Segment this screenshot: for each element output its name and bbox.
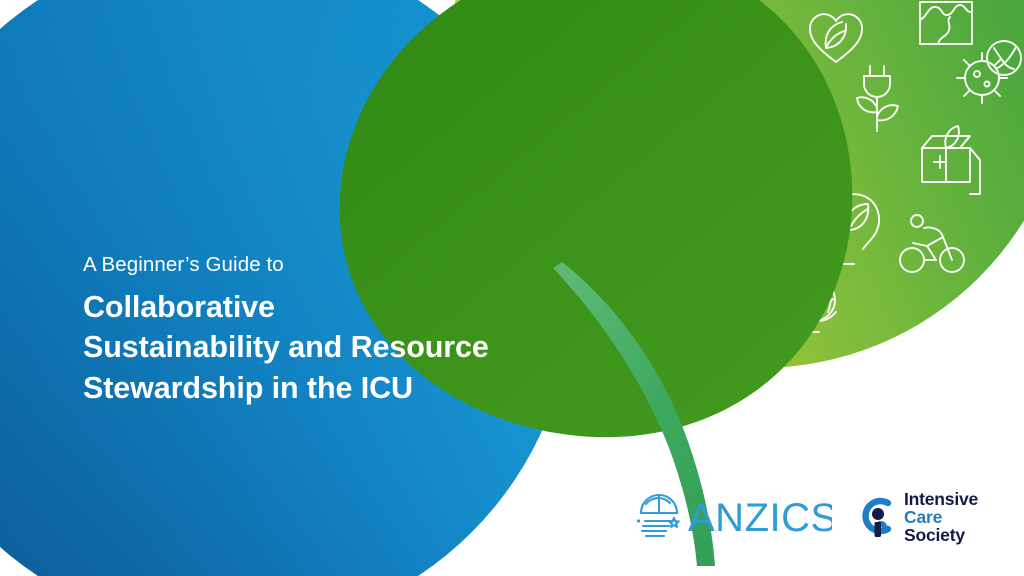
- ics-wordmark: Intensive Care Society: [904, 491, 978, 545]
- page-title: Collaborative Sustainability and Resourc…: [83, 287, 553, 409]
- title-block: A Beginner’s Guide to Collaborative Sust…: [83, 252, 553, 408]
- cover-eyebrow: A Beginner’s Guide to: [83, 252, 553, 278]
- anzics-logo[interactable]: ANZICS ANZICS: [636, 490, 832, 546]
- intensive-care-society-logo[interactable]: Intensive Care Society: [858, 488, 1004, 548]
- ics-c-figure-icon: [858, 493, 898, 543]
- cover-page: A Beginner’s Guide to Collaborative Sust…: [0, 0, 1024, 576]
- ics-line-3: Society: [904, 527, 978, 545]
- anzics-wordmark: ANZICS: [688, 496, 832, 540]
- anzics-emblem-icon: [637, 495, 679, 536]
- logo-row: ANZICS ANZICS Intensive Care Society: [636, 482, 1008, 554]
- anzics-logo-svg: ANZICS: [636, 490, 832, 546]
